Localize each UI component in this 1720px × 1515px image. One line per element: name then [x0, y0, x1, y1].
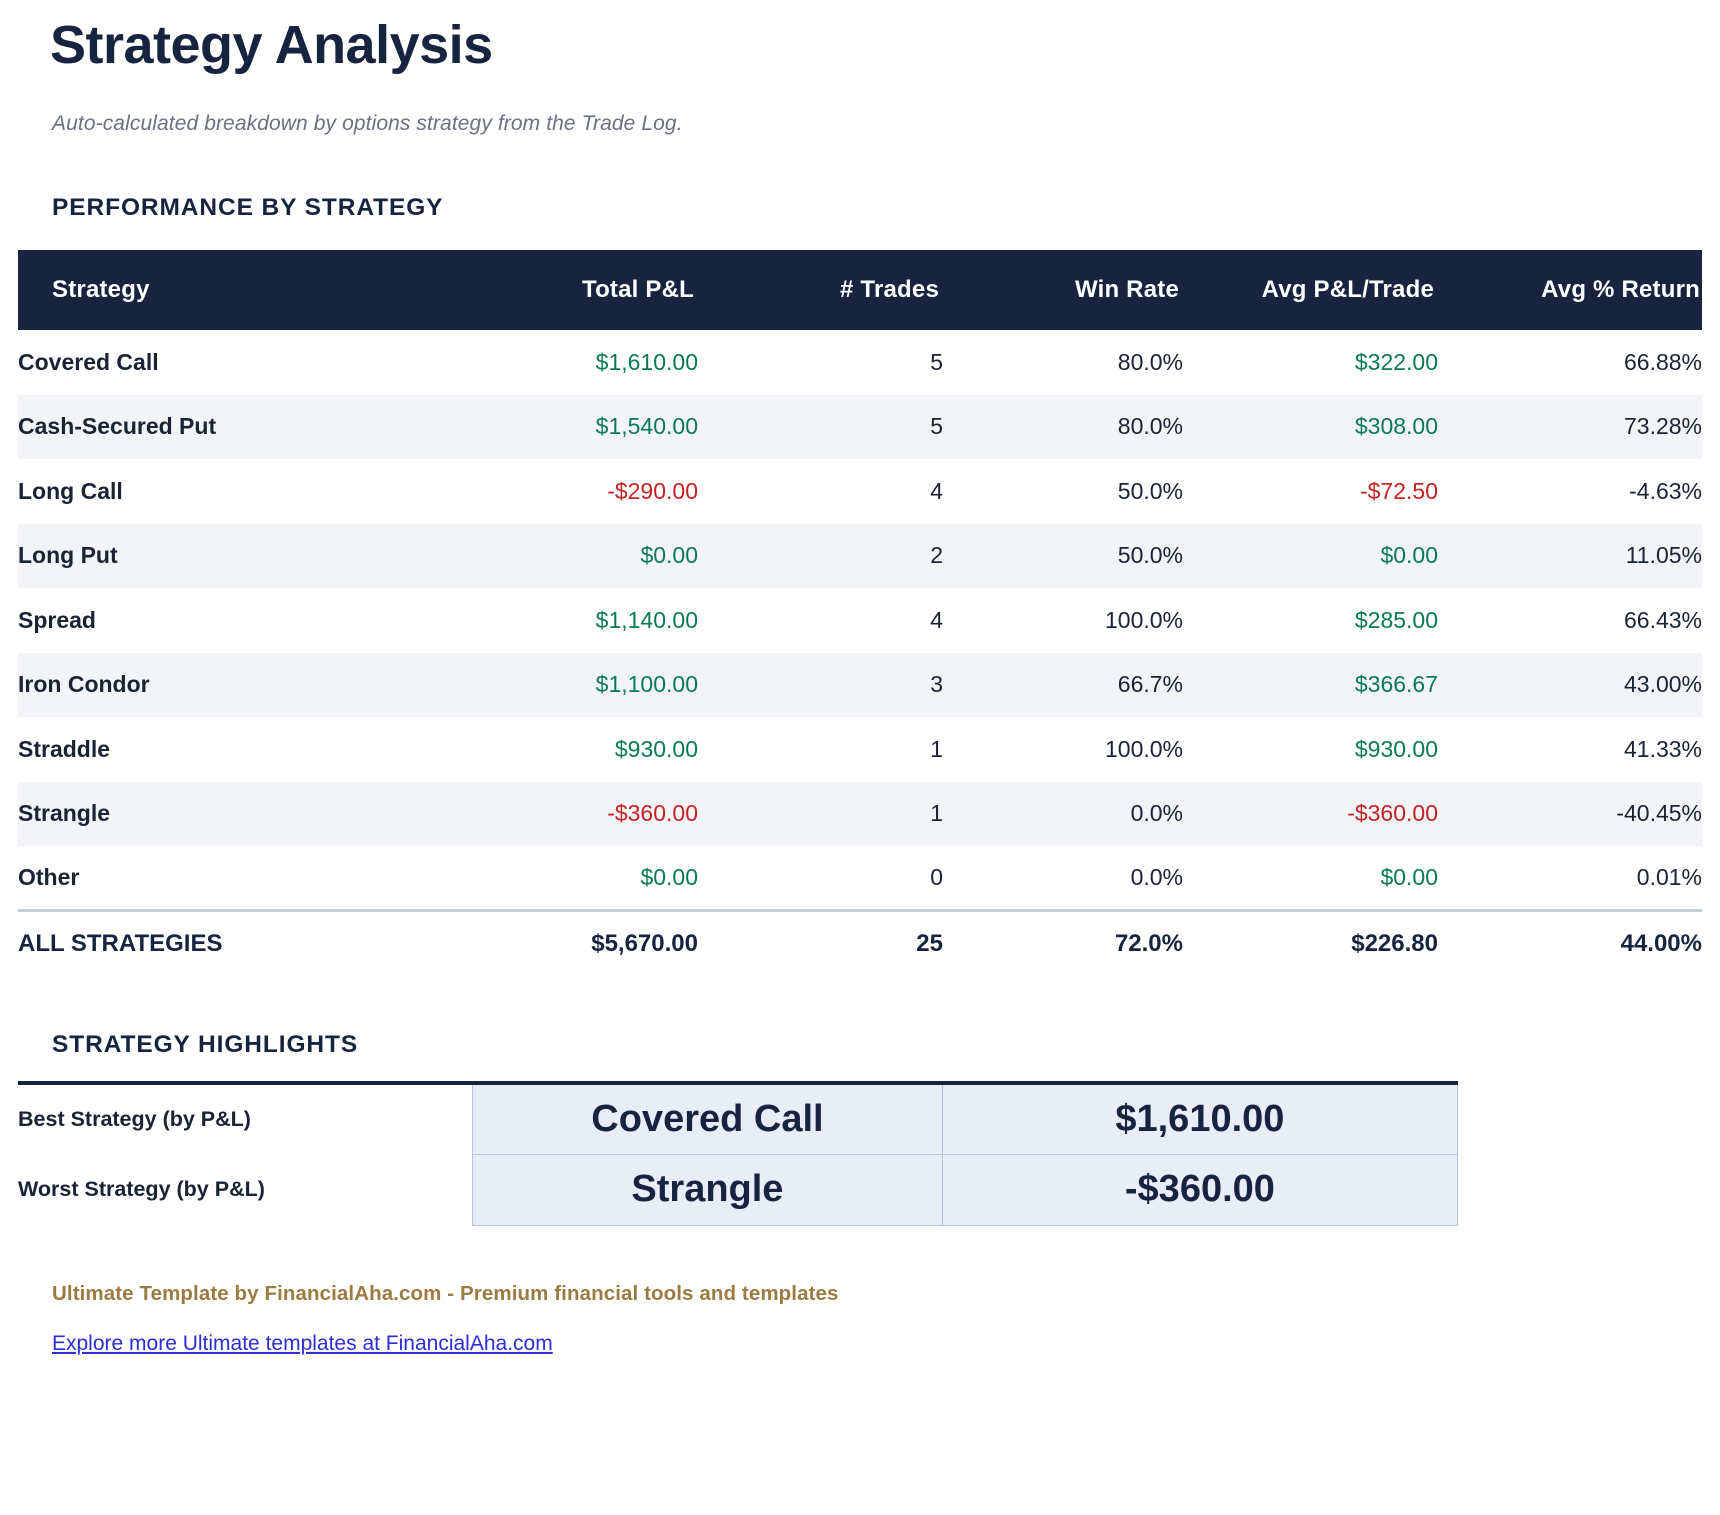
totals-total-pnl: $5,670.00	[448, 911, 698, 976]
table-totals-row: ALL STRATEGIES $5,670.00 25 72.0% $226.8…	[18, 911, 1702, 976]
cell-trades: 1	[698, 717, 943, 782]
cell-trades: 2	[698, 524, 943, 589]
cell-strategy: Covered Call	[18, 330, 448, 395]
table-row[interactable]: Long Put $0.00 2 50.0% $0.00 11.05%	[18, 524, 1702, 589]
cell-trades: 5	[698, 395, 943, 460]
table-row[interactable]: Iron Condor $1,100.00 3 66.7% $366.67 43…	[18, 653, 1702, 718]
highlight-label-worst: Worst Strategy (by P&L)	[18, 1154, 473, 1225]
cell-win-rate: 80.0%	[943, 395, 1183, 460]
column-header-win-rate[interactable]: Win Rate	[943, 250, 1183, 330]
cell-strategy: Cash-Secured Put	[18, 395, 448, 460]
totals-trades: 25	[698, 911, 943, 976]
footer-link[interactable]: Explore more Ultimate templates at Finan…	[18, 1306, 553, 1356]
cell-win-rate: 80.0%	[943, 330, 1183, 395]
column-header-trades[interactable]: # Trades	[698, 250, 943, 330]
cell-total-pnl: $0.00	[448, 846, 698, 911]
cell-trades: 3	[698, 653, 943, 718]
cell-win-rate: 50.0%	[943, 524, 1183, 589]
table-header-row: Strategy Total P&L # Trades Win Rate Avg…	[18, 250, 1702, 330]
cell-total-pnl: $0.00	[448, 524, 698, 589]
cell-total-pnl: -$290.00	[448, 459, 698, 524]
cell-avg-return: 66.88%	[1438, 330, 1702, 395]
cell-strategy: Long Call	[18, 459, 448, 524]
table-body: Covered Call $1,610.00 5 80.0% $322.00 6…	[18, 330, 1702, 975]
table-row[interactable]: Cash-Secured Put $1,540.00 5 80.0% $308.…	[18, 395, 1702, 460]
column-header-strategy[interactable]: Strategy	[18, 250, 448, 330]
cell-avg-return: -4.63%	[1438, 459, 1702, 524]
performance-by-strategy-table: Strategy Total P&L # Trades Win Rate Avg…	[18, 250, 1702, 975]
cell-strategy: Straddle	[18, 717, 448, 782]
cell-trades: 5	[698, 330, 943, 395]
table-row[interactable]: Straddle $930.00 1 100.0% $930.00 41.33%	[18, 717, 1702, 782]
highlight-name-worst: Strangle	[473, 1154, 943, 1225]
totals-label: ALL STRATEGIES	[18, 911, 448, 976]
cell-avg-pnl: $285.00	[1183, 588, 1438, 653]
table-row[interactable]: Covered Call $1,610.00 5 80.0% $322.00 6…	[18, 330, 1702, 395]
totals-win-rate: 72.0%	[943, 911, 1183, 976]
page-title: Strategy Analysis	[18, 0, 1702, 76]
highlights-section-heading: STRATEGY HIGHLIGHTS	[18, 975, 1702, 1059]
cell-win-rate: 0.0%	[943, 846, 1183, 911]
footer-note: Ultimate Template by FinancialAha.com - …	[18, 1226, 1702, 1306]
highlight-row-best: Best Strategy (by P&L) Covered Call $1,6…	[18, 1083, 1458, 1154]
cell-avg-return: 43.00%	[1438, 653, 1702, 718]
cell-total-pnl: $1,100.00	[448, 653, 698, 718]
highlight-value-best: $1,610.00	[942, 1083, 1457, 1154]
highlight-value-worst: -$360.00	[942, 1154, 1457, 1225]
cell-win-rate: 50.0%	[943, 459, 1183, 524]
cell-avg-return: 73.28%	[1438, 395, 1702, 460]
table-row[interactable]: Strangle -$360.00 1 0.0% -$360.00 -40.45…	[18, 782, 1702, 847]
page-subtitle: Auto-calculated breakdown by options str…	[18, 76, 1702, 136]
cell-avg-return: -40.45%	[1438, 782, 1702, 847]
cell-trades: 4	[698, 588, 943, 653]
cell-trades: 0	[698, 846, 943, 911]
cell-avg-pnl: $0.00	[1183, 524, 1438, 589]
cell-win-rate: 100.0%	[943, 588, 1183, 653]
cell-avg-pnl: -$72.50	[1183, 459, 1438, 524]
cell-strategy: Other	[18, 846, 448, 911]
table-row[interactable]: Other $0.00 0 0.0% $0.00 0.01%	[18, 846, 1702, 911]
cell-total-pnl: $930.00	[448, 717, 698, 782]
totals-avg-return: 44.00%	[1438, 911, 1702, 976]
cell-trades: 1	[698, 782, 943, 847]
cell-strategy: Strangle	[18, 782, 448, 847]
column-header-avg-return[interactable]: Avg % Return	[1438, 250, 1702, 330]
table-row[interactable]: Spread $1,140.00 4 100.0% $285.00 66.43%	[18, 588, 1702, 653]
cell-total-pnl: -$360.00	[448, 782, 698, 847]
cell-total-pnl: $1,540.00	[448, 395, 698, 460]
cell-avg-pnl: $0.00	[1183, 846, 1438, 911]
highlight-row-worst: Worst Strategy (by P&L) Strangle -$360.0…	[18, 1154, 1458, 1225]
cell-avg-pnl: $322.00	[1183, 330, 1438, 395]
cell-trades: 4	[698, 459, 943, 524]
cell-avg-pnl: $930.00	[1183, 717, 1438, 782]
cell-avg-return: 0.01%	[1438, 846, 1702, 911]
cell-avg-pnl: $308.00	[1183, 395, 1438, 460]
cell-strategy: Iron Condor	[18, 653, 448, 718]
cell-total-pnl: $1,140.00	[448, 588, 698, 653]
column-header-total-pnl[interactable]: Total P&L	[448, 250, 698, 330]
cell-win-rate: 0.0%	[943, 782, 1183, 847]
table-header: Strategy Total P&L # Trades Win Rate Avg…	[18, 250, 1702, 330]
cell-avg-return: 41.33%	[1438, 717, 1702, 782]
cell-avg-pnl: $366.67	[1183, 653, 1438, 718]
table-row[interactable]: Long Call -$290.00 4 50.0% -$72.50 -4.63…	[18, 459, 1702, 524]
cell-strategy: Long Put	[18, 524, 448, 589]
strategy-highlights-table: Best Strategy (by P&L) Covered Call $1,6…	[18, 1081, 1458, 1226]
cell-avg-pnl: -$360.00	[1183, 782, 1438, 847]
cell-strategy: Spread	[18, 588, 448, 653]
cell-avg-return: 11.05%	[1438, 524, 1702, 589]
cell-win-rate: 100.0%	[943, 717, 1183, 782]
performance-section-heading: PERFORMANCE BY STRATEGY	[18, 136, 1702, 222]
cell-avg-return: 66.43%	[1438, 588, 1702, 653]
column-header-avg-pnl-trade[interactable]: Avg P&L/Trade	[1183, 250, 1438, 330]
cell-win-rate: 66.7%	[943, 653, 1183, 718]
highlight-label-best: Best Strategy (by P&L)	[18, 1083, 473, 1154]
highlight-name-best: Covered Call	[473, 1083, 943, 1154]
cell-total-pnl: $1,610.00	[448, 330, 698, 395]
totals-avg-pnl: $226.80	[1183, 911, 1438, 976]
strategy-analysis-page: Strategy Analysis Auto-calculated breakd…	[0, 0, 1720, 1515]
